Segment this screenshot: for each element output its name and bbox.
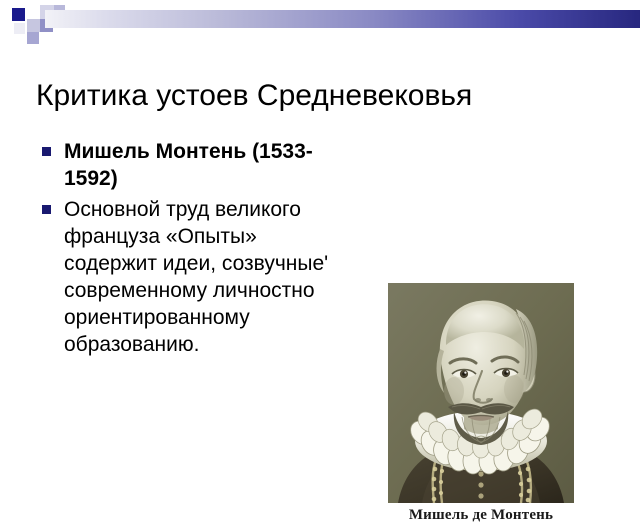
list-item-label: Основной труд великого француза «Опыты» … <box>64 196 338 358</box>
portrait-caption: Мишель де Монтень <box>388 507 574 524</box>
page-title: Критика устоев Средневековья <box>36 78 606 114</box>
decorative-square <box>14 23 25 34</box>
decorative-square <box>27 3 40 16</box>
bullet-square-icon <box>42 147 51 156</box>
list-item-label: Мишель Монтень (1533-1592) <box>64 138 338 192</box>
portrait-frame <box>388 283 574 503</box>
bullet-list: Мишель Монтень (1533-1592) Основной труд… <box>38 138 338 362</box>
decorative-square <box>27 32 39 44</box>
bullet-square-icon <box>42 205 51 214</box>
list-item: Основной труд великого француза «Опыты» … <box>38 196 338 358</box>
portrait-michel-de-montaigne-image <box>388 283 574 503</box>
portrait-figure: Мишель де Монтень <box>388 283 574 528</box>
slide-content: Мишель Монтень (1533-1592) Основной труд… <box>0 138 640 480</box>
header-gradient-bar <box>45 10 640 28</box>
decorative-square <box>27 19 40 32</box>
decorative-square <box>12 8 25 21</box>
list-item: Мишель Монтень (1533-1592) <box>38 138 338 192</box>
header-decoration <box>0 0 640 42</box>
